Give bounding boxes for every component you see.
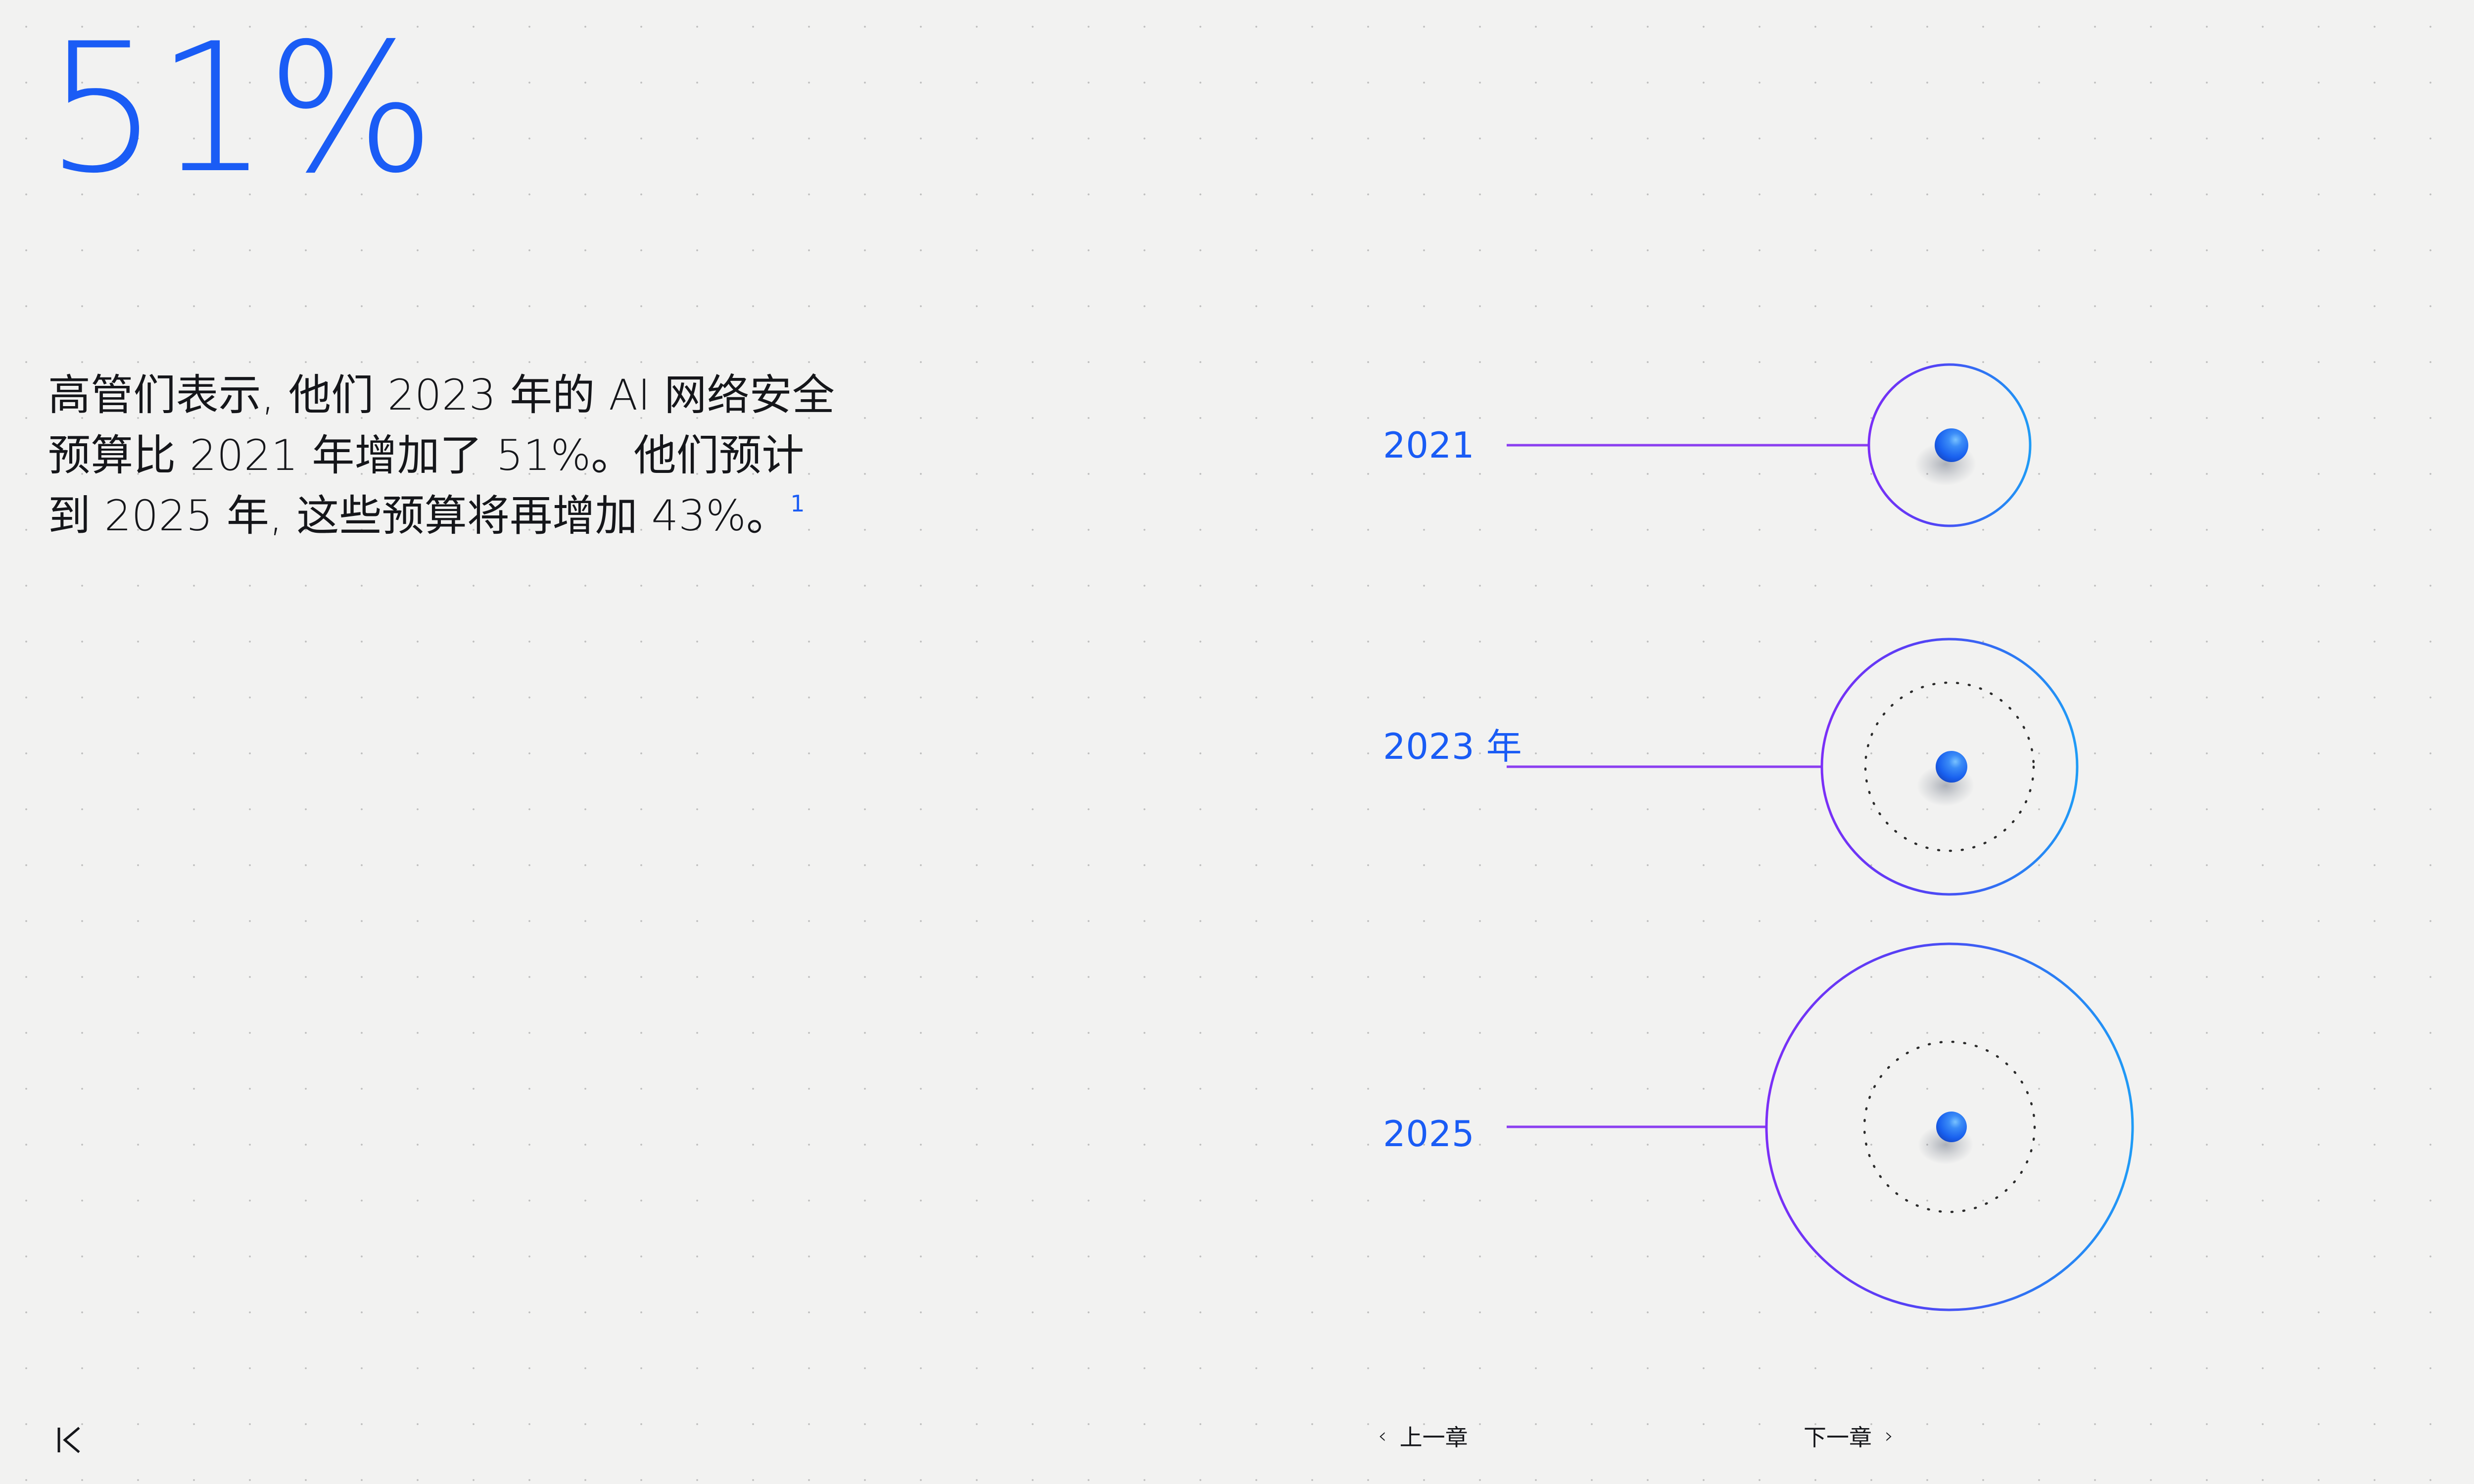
skip-to-first-glyph	[54, 1424, 92, 1456]
body-paragraph: 高管们表示, 他们 2023 年的 AI 网络安全预算比 2021 年增加了 5…	[48, 365, 840, 546]
bubble-group-2021[interactable]	[1507, 365, 2030, 526]
slide-canvas: 51% 高管们表示, 他们 2023 年的 AI 网络安全预算比 2021 年增…	[0, 0, 2474, 1484]
body-paragraph-text: 高管们表示, 他们 2023 年的 AI 网络安全预算比 2021 年增加了 5…	[48, 371, 835, 541]
bubble-group-2025[interactable]	[1507, 944, 2133, 1310]
footer-bar: ‹ 上一章 下一章 › 8	[0, 1400, 2474, 1484]
page-title-stat: 51%	[46, 4, 432, 214]
sphere-2023	[1936, 751, 1967, 783]
chevron-right-icon: ›	[1885, 1425, 1894, 1447]
next-chapter-label: 下一章	[1804, 1420, 1872, 1452]
sphere-2025	[1936, 1112, 1967, 1142]
prev-chapter-button[interactable]: ‹ 上一章	[1378, 1420, 1468, 1452]
next-chapter-button[interactable]: 下一章 ›	[1804, 1420, 1894, 1452]
chevron-left-icon: ‹	[1378, 1425, 1387, 1447]
skip-to-first-icon[interactable]	[54, 1424, 94, 1458]
footnote-marker: 1	[790, 490, 805, 517]
bubble-diagram: 2021 2023 年 2025	[1286, 297, 2276, 1345]
bubble-label-2021[interactable]: 2021	[1383, 424, 1475, 466]
bubble-group-2023[interactable]	[1507, 639, 2077, 894]
bubble-label-2025[interactable]: 2025	[1383, 1113, 1475, 1155]
prev-chapter-label: 上一章	[1400, 1420, 1468, 1452]
sphere-2021	[1935, 428, 1968, 462]
bubble-label-2023[interactable]: 2023 年	[1383, 717, 1522, 769]
